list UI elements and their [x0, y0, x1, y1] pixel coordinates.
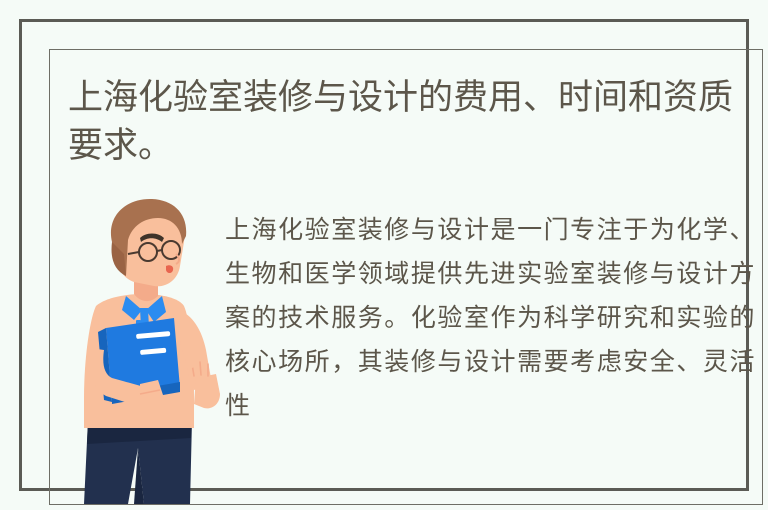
- illustration-man-waving-holding-book: [70, 198, 236, 504]
- article-body: 上海化验室装修与设计是一门专注于为化学、生物和医学领域提供先进实验室装修与设计方…: [225, 208, 755, 428]
- trousers-group: [84, 420, 192, 504]
- outer-border-frame: 上海化验室装修与设计的费用、时间和资质要求。: [19, 19, 749, 491]
- illustration-svg: [70, 198, 236, 504]
- article-content: 上海化验室装修与设计是一门专注于为化学、生物和医学领域提供先进实验室装修与设计方…: [50, 198, 762, 504]
- head-group: [111, 199, 186, 286]
- article-title: 上海化验室装修与设计的费用、时间和资质要求。: [68, 74, 744, 170]
- inner-border-frame: 上海化验室装修与设计的费用、时间和资质要求。: [49, 49, 763, 505]
- page-root: 上海化验室装修与设计的费用、时间和资质要求。: [0, 0, 768, 510]
